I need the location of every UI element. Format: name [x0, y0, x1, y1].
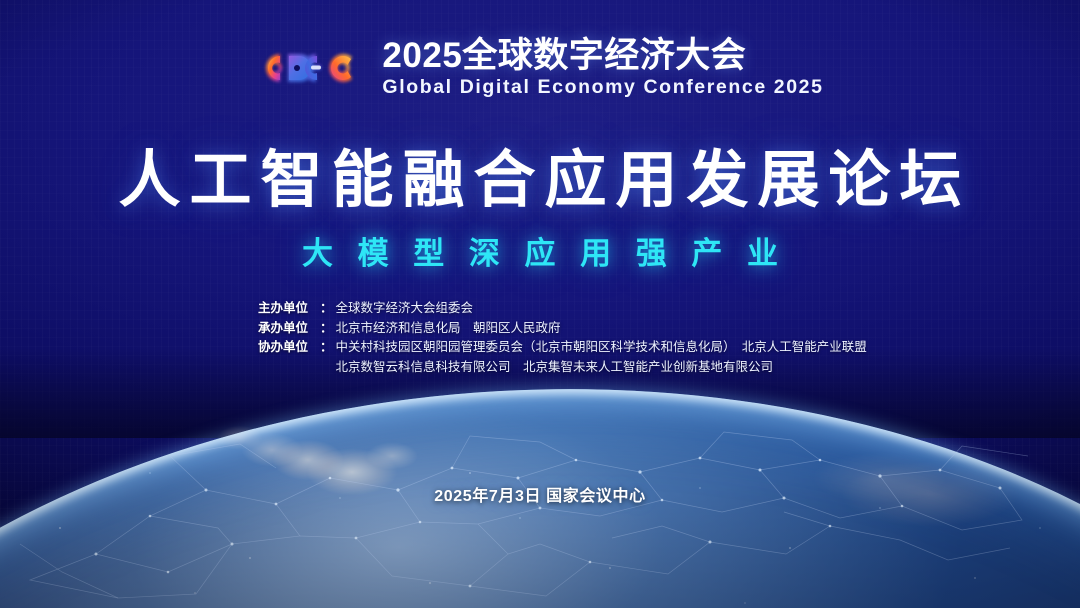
organizer-colon: ： — [320, 338, 333, 358]
conference-title-cn: 2025全球数字经济大会 — [382, 38, 823, 75]
organizer-row: 主办单位 ： 全球数字经济大会组委会 — [258, 299, 867, 319]
organizer-row: 协办单位 ： 北京数智云科信息科技有限公司 北京集智未来人工智能产业创新基地有限… — [258, 358, 867, 378]
forum-title: 人工智能融合应用发展论坛 — [0, 148, 1080, 215]
banner-header: 2025全球数字经济大会 Global Digital Economy Conf… — [0, 38, 1080, 98]
header-text-block: 2025全球数字经济大会 Global Digital Economy Conf… — [382, 38, 823, 98]
organizer-colon: ： — [320, 319, 333, 339]
gdec-logo-icon — [256, 40, 364, 96]
organizer-value: 北京市经济和信息化局 朝阳区人民政府 — [336, 319, 561, 339]
organizer-label: 协办单位 — [258, 338, 320, 358]
organizer-value: 北京数智云科信息科技有限公司 北京集智未来人工智能产业创新基地有限公司 — [336, 358, 774, 378]
organizer-value: 中关村科技园区朝阳园管理委员会（北京市朝阳区科学技术和信息化局） 北京人工智能产… — [336, 338, 867, 358]
organizer-row: 承办单位 ： 北京市经济和信息化局 朝阳区人民政府 — [258, 319, 867, 339]
organizer-list: 主办单位 ： 全球数字经济大会组委会 承办单位 ： 北京市经济和信息化局 朝阳区… — [258, 299, 867, 377]
date-venue-text: 2025年7月3日 国家会议中心 — [0, 482, 1080, 506]
organizer-value: 全球数字经济大会组委会 — [336, 299, 474, 319]
conference-banner: 2025全球数字经济大会 Global Digital Economy Conf… — [0, 0, 1080, 608]
organizer-row: 协办单位 ： 中关村科技园区朝阳园管理委员会（北京市朝阳区科学技术和信息化局） … — [258, 338, 867, 358]
conference-title-en: Global Digital Economy Conference 2025 — [382, 77, 823, 98]
organizer-label: 主办单位 — [258, 299, 320, 319]
organizer-colon: ： — [320, 299, 333, 319]
earth-graphic — [0, 348, 1080, 608]
forum-slogan: 大 模 型 深 应 用 强 产 业 — [0, 237, 1080, 271]
organizer-label: 承办单位 — [258, 319, 320, 339]
